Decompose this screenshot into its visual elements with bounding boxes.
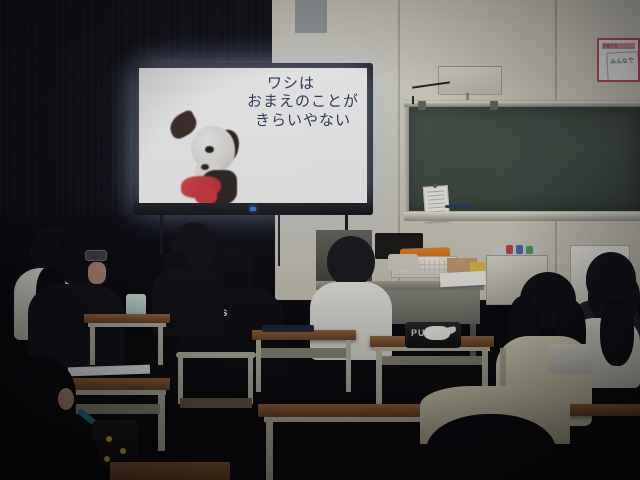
chalkboard-ledge	[404, 212, 640, 221]
desk-edge-foreground	[110, 462, 230, 480]
poster-banner-text: お知らせ	[603, 43, 618, 49]
bag-charm-icon	[120, 448, 126, 454]
desk-leg	[376, 347, 382, 405]
display-stand-left	[160, 215, 163, 255]
slide-caption: ワシは おまえのことが きらいやない	[243, 74, 359, 129]
ceiling-cable-drop	[412, 96, 414, 104]
bag-charm-icon	[104, 456, 110, 462]
chalkboard-left-edge	[404, 101, 409, 221]
shelf-item-red	[506, 245, 513, 254]
pencil-pouch	[388, 254, 418, 270]
desk-shelf	[256, 348, 350, 358]
desk-item-case	[262, 325, 314, 332]
wall-poster: お知らせ みんなで	[597, 38, 640, 82]
student-head	[426, 414, 556, 480]
slide-line-3: きらいやない	[243, 111, 359, 129]
dog-eye	[205, 146, 214, 153]
student-ear	[58, 388, 74, 410]
drink-cup	[126, 294, 146, 316]
display-screen: ワシは おまえのことが きらいやない	[139, 68, 367, 203]
school-bag	[92, 420, 138, 468]
display-cable	[278, 214, 280, 266]
dog-collar-detail	[195, 188, 217, 203]
desk-frame	[88, 323, 166, 327]
shelf-item-green	[526, 246, 533, 254]
slide-line-1: ワシは	[243, 74, 359, 92]
desk-leg	[346, 340, 351, 392]
chair-back	[176, 352, 256, 358]
shelf-item-blue	[516, 245, 523, 254]
chalkboard-clip	[418, 101, 426, 110]
student-head	[327, 236, 375, 286]
bag-charm-icon	[106, 436, 112, 442]
desk-leg	[256, 340, 261, 392]
wall-panel	[295, 0, 327, 33]
dog-nose	[201, 164, 209, 170]
glasses-icon	[85, 250, 107, 261]
open-notebook	[68, 365, 150, 377]
wall-speaker-icon	[438, 66, 502, 95]
tissue	[424, 326, 450, 340]
student-desk	[84, 314, 170, 323]
desk-shelf	[378, 356, 482, 365]
desk-leg	[158, 393, 165, 451]
chalkboard-clip	[490, 101, 498, 110]
student-collar	[548, 344, 592, 374]
desk-frame	[264, 417, 442, 422]
desk-leg	[266, 420, 273, 480]
paper-stack	[440, 271, 487, 287]
classroom-photo: お知らせ みんなで ワシは おまえのことが きらいやない	[0, 0, 640, 480]
student-hair	[600, 300, 634, 366]
desk-leg	[90, 323, 95, 365]
chalkboard-top-rail	[404, 101, 640, 107]
student-torso	[0, 430, 98, 480]
slide-line-2: おまえのことが	[243, 92, 359, 110]
desk-leg	[158, 323, 163, 365]
board-pointer	[445, 205, 475, 208]
chair-seat	[180, 398, 252, 408]
magnet-icon	[433, 184, 437, 188]
power-led-icon	[250, 207, 256, 211]
student-face	[88, 262, 106, 284]
poster-handwriting: みんなで	[610, 55, 635, 66]
